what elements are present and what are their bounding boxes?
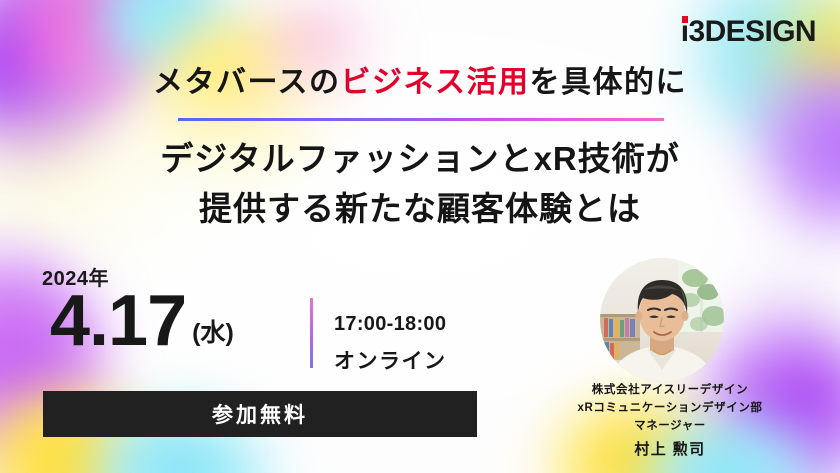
logo-letter-i: i <box>681 17 689 47</box>
subtitle-before-text: メタバースの <box>153 66 341 99</box>
speaker-photo-illustration <box>600 258 724 382</box>
subtitle-after-text: を具体的に <box>530 66 688 99</box>
free-admission-label: 参加無料 <box>212 399 308 429</box>
gradient-divider-vertical <box>310 298 313 368</box>
speaker-company: 株式会社アイスリーデザイン <box>520 382 820 400</box>
speaker-info: 株式会社アイスリーデザイン xRコミュニケーションデザイン部 マネージャー 村上… <box>520 382 820 459</box>
speaker-department: xRコミュニケーションデザイン部 <box>520 400 820 418</box>
event-time-block: 17:00-18:00 オンライン <box>334 313 447 375</box>
free-admission-button[interactable]: 参加無料 <box>43 391 477 437</box>
subtitle-highlight-text: ビジネス活用 <box>341 66 530 99</box>
logo-rest-text: 3DESIGN <box>688 17 816 47</box>
event-day-of-week: (水) <box>192 313 234 349</box>
banner-headline: デジタルファッションとxR技術が 提供する新たな顧客体験とは <box>0 134 840 234</box>
speaker-avatar <box>600 258 724 382</box>
headline-line-1: デジタルファッションとxR技術が <box>0 134 840 184</box>
headline-line-2: 提供する新たな顧客体験とは <box>0 184 840 234</box>
banner-subtitle: メタバースのビジネス活用を具体的に <box>0 64 840 102</box>
logo-red-dot <box>682 16 688 23</box>
speaker-title: マネージャー <box>520 418 820 436</box>
event-date-number: 4.17 <box>50 288 186 354</box>
gradient-divider-horizontal <box>178 118 664 121</box>
event-format: オンライン <box>334 345 447 375</box>
event-date-block: 4.17 (水) <box>50 288 234 354</box>
i3design-logo: i 3DESIGN <box>681 17 816 47</box>
event-time: 17:00-18:00 <box>334 313 447 336</box>
webinar-banner: i 3DESIGN メタバースのビジネス活用を具体的に デジタルファッションとx… <box>0 0 840 473</box>
speaker-name: 村上 勲司 <box>520 438 820 459</box>
